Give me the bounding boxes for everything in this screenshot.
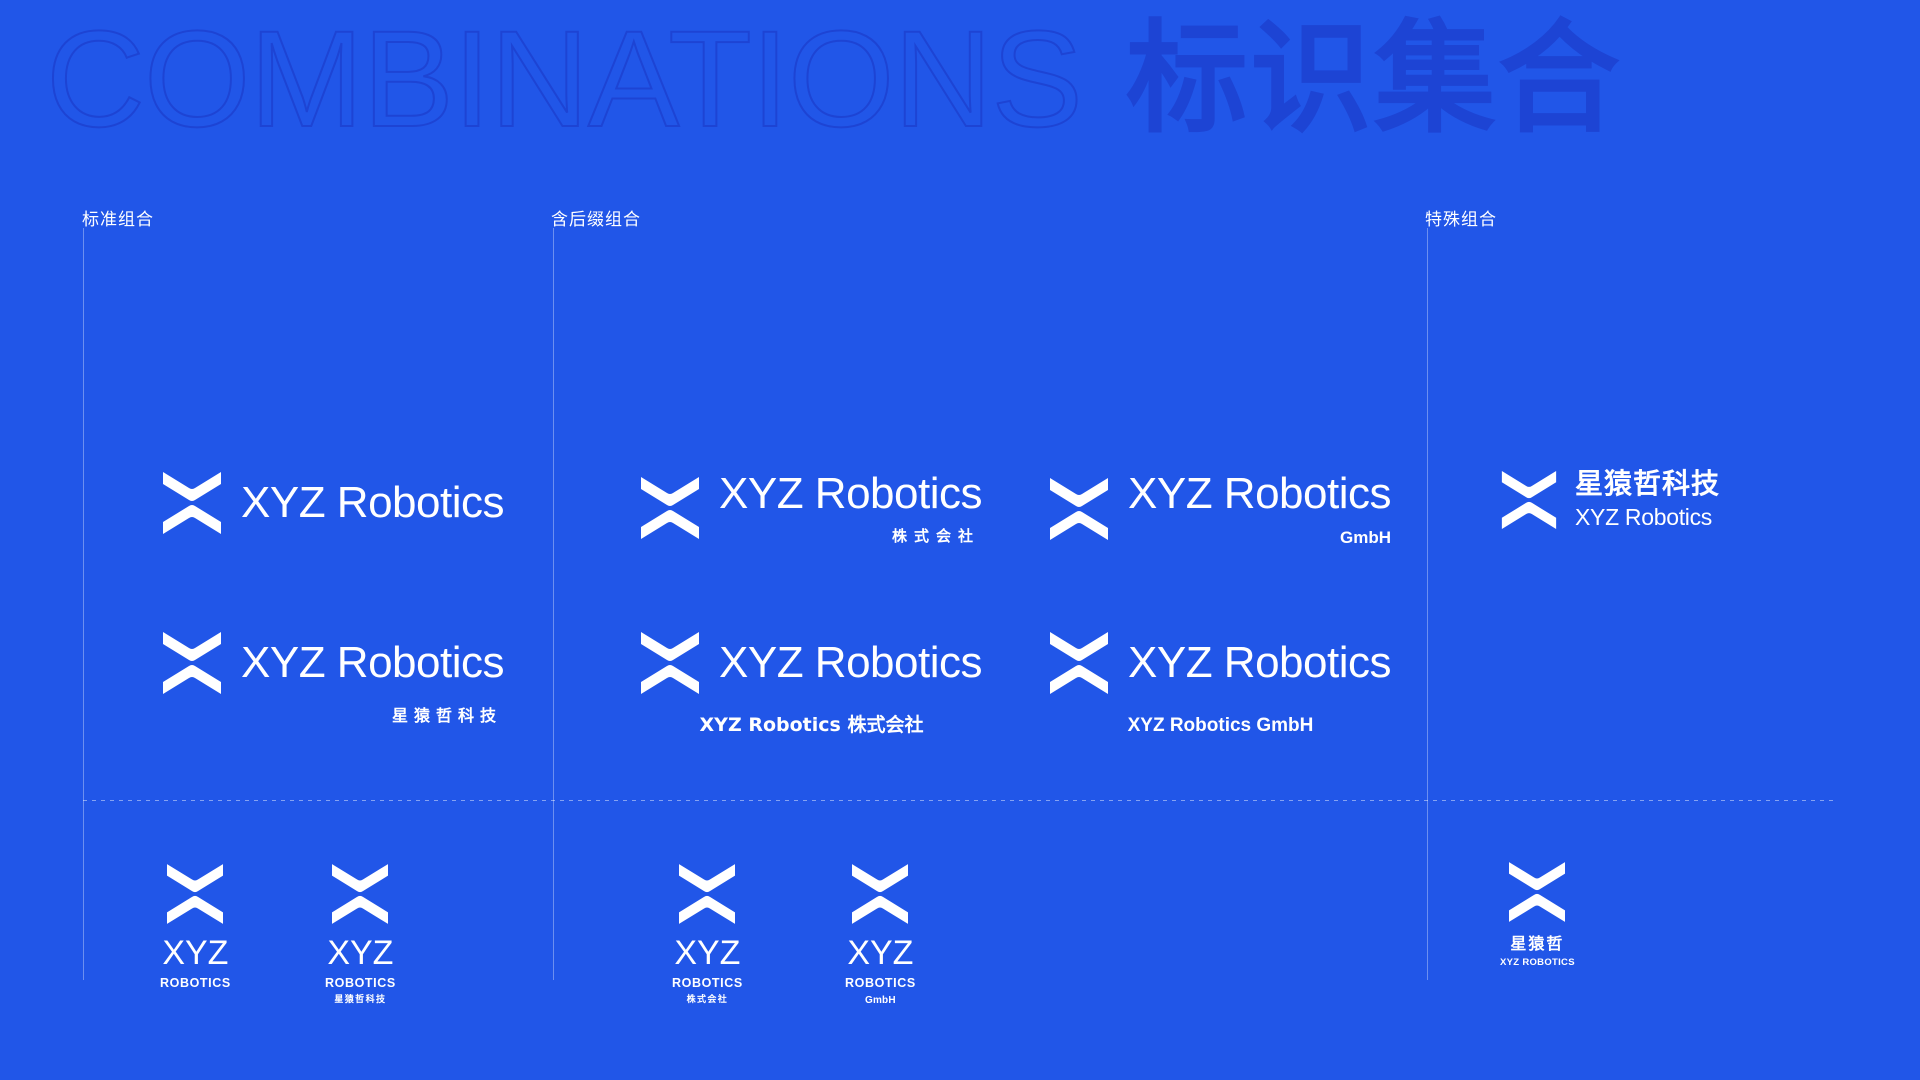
wordmark-cn: 星猿哲科技	[1575, 470, 1720, 498]
wordmark: XYZ Robotics	[719, 641, 982, 685]
lockup-vertical-standard: XYZ ROBOTICS	[160, 864, 231, 990]
section-label-special: 特殊组合	[1425, 205, 1497, 230]
suffix-cn: 星猿哲科技	[334, 996, 386, 1005]
wordmark: XYZ Robotics	[719, 472, 982, 516]
column-divider-standard	[83, 228, 84, 980]
xyz-logo-mark	[1050, 632, 1108, 694]
page-title-cn: 标识集合	[1126, 18, 1622, 140]
column-divider-suffix	[553, 228, 554, 980]
xyz-logo-mark	[1501, 471, 1557, 529]
xyz-logo-mark	[679, 864, 735, 924]
lockup-standard-horizontal: XYZ Robotics	[163, 472, 504, 534]
xyz-logo-mark	[167, 864, 223, 924]
combinations-page: COMBINATIONS 标识集合 标准组合 含后缀组合 特殊组合 XYZ Ro…	[0, 0, 1920, 1080]
lockup-vertical-special: 星猿哲 XYZ ROBOTICS	[1500, 862, 1575, 968]
lockup-vertical-cn: XYZ ROBOTICS 星猿哲科技	[325, 864, 396, 1005]
wordmark-robotics: ROBOTICS	[845, 977, 916, 990]
wordblock: 星猿哲科技 XYZ Robotics	[1575, 470, 1720, 529]
section-label-standard: 标准组合	[82, 205, 154, 230]
lockup-row: XYZ Robotics	[641, 632, 982, 694]
horizontal-divider	[83, 800, 1835, 801]
lockup-jp-horizontal: XYZ Robotics 株式会社	[641, 472, 982, 544]
column-divider-special	[1427, 228, 1428, 980]
suffix-jp: 株式会社	[687, 996, 729, 1005]
page-title-en: COMBINATIONS	[46, 11, 1082, 148]
xyz-logo-mark	[1050, 478, 1108, 540]
wordmark: XYZ Robotics	[1575, 506, 1720, 529]
wordmark: XYZ Robotics	[241, 641, 504, 685]
caption-jp: XYZ Robotics 株式会社	[641, 716, 982, 735]
wordmark-caps: XYZ ROBOTICS	[1500, 958, 1575, 968]
xyz-logo-mark	[641, 477, 699, 539]
lockup-vertical-jp: XYZ ROBOTICS 株式会社	[672, 864, 743, 1005]
wordblock: XYZ Robotics GmbH	[1128, 472, 1391, 546]
lockup-row: XYZ Robotics	[1050, 632, 1391, 694]
wordmark-robotics: ROBOTICS	[160, 977, 231, 990]
caption-cn: 星猿哲科技	[163, 708, 504, 724]
lockup-de-with-caption: XYZ Robotics XYZ Robotics GmbH	[1050, 632, 1391, 735]
wordmark: XYZ Robotics	[1128, 641, 1391, 685]
wordmark-xyz: XYZ	[674, 936, 740, 970]
xyz-logo-mark	[163, 472, 221, 534]
wordmark-robotics: ROBOTICS	[672, 977, 743, 990]
wordmark-xyz: XYZ	[327, 936, 393, 970]
wordmark-xyz: XYZ	[162, 936, 228, 970]
wordmark: XYZ Robotics	[241, 481, 504, 525]
lockup-row: XYZ Robotics	[163, 632, 504, 694]
suffix-de: GmbH	[865, 996, 896, 1006]
xyz-logo-mark	[163, 632, 221, 694]
wordblock: XYZ Robotics 株式会社	[719, 472, 982, 544]
xyz-logo-mark	[852, 864, 908, 924]
section-label-suffix: 含后缀组合	[551, 205, 641, 230]
lockup-special-horizontal: 星猿哲科技 XYZ Robotics	[1501, 470, 1720, 529]
lockup-de-horizontal: XYZ Robotics GmbH	[1050, 472, 1391, 546]
page-title: COMBINATIONS 标识集合	[46, 4, 1886, 154]
suffix-de: GmbH	[1128, 529, 1391, 546]
lockup-vertical-de: XYZ ROBOTICS GmbH	[845, 864, 916, 1006]
lockup-standard-with-cn: XYZ Robotics 星猿哲科技	[163, 632, 504, 724]
xyz-logo-mark	[1509, 862, 1565, 922]
wordmark-cn-short: 星猿哲	[1510, 936, 1564, 952]
xyz-logo-mark	[332, 864, 388, 924]
wordmark-robotics: ROBOTICS	[325, 977, 396, 990]
suffix-jp: 株式会社	[719, 529, 982, 544]
wordmark: XYZ Robotics	[1128, 472, 1391, 516]
lockup-jp-with-caption: XYZ Robotics XYZ Robotics 株式会社	[641, 632, 982, 735]
caption-de: XYZ Robotics GmbH	[1050, 716, 1391, 735]
wordmark-xyz: XYZ	[847, 936, 913, 970]
wordblock: XYZ Robotics	[241, 481, 504, 525]
xyz-logo-mark	[641, 632, 699, 694]
